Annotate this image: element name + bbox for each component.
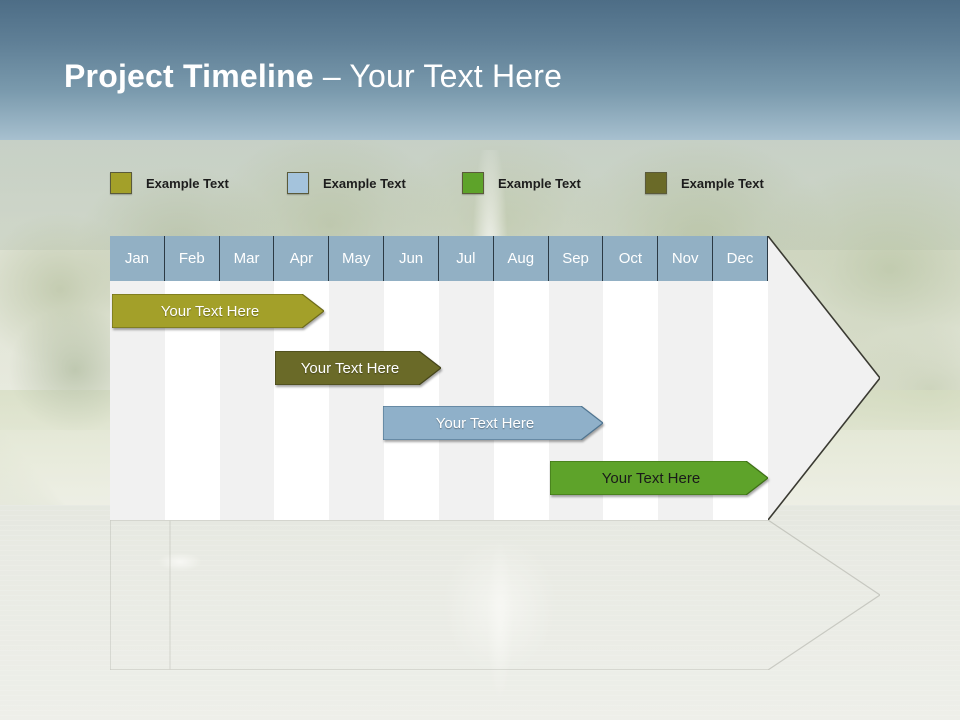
legend-swatch-icon: [110, 172, 132, 194]
legend-item-3[interactable]: Example Text: [462, 170, 581, 196]
task-bar-label: Your Text Here: [112, 303, 324, 320]
month-header-nov[interactable]: Nov: [658, 236, 713, 281]
page-title-bold: Project Timeline: [64, 58, 314, 94]
month-header-jul[interactable]: Jul: [439, 236, 494, 281]
legend: Example TextExample TextExample TextExam…: [0, 170, 960, 196]
task-bar-label: Your Text Here: [383, 415, 603, 432]
month-column: Mar: [220, 236, 275, 520]
legend-label: Example Text: [681, 176, 764, 191]
month-header-dec[interactable]: Dec: [713, 236, 768, 281]
month-header-mar[interactable]: Mar: [220, 236, 275, 281]
month-header-jun[interactable]: Jun: [384, 236, 439, 281]
month-header-aug[interactable]: Aug: [494, 236, 549, 281]
timeline-arrow-reflection: [110, 520, 880, 670]
task-bar-3[interactable]: Your Text Here: [383, 406, 603, 440]
legend-item-4[interactable]: Example Text: [645, 170, 764, 196]
month-header-sep[interactable]: Sep: [549, 236, 604, 281]
legend-label: Example Text: [498, 176, 581, 191]
legend-swatch-icon: [287, 172, 309, 194]
page-title: Project Timeline – Your Text Here: [64, 58, 562, 95]
legend-item-2[interactable]: Example Text: [287, 170, 406, 196]
legend-label: Example Text: [146, 176, 229, 191]
month-header-apr[interactable]: Apr: [274, 236, 329, 281]
legend-swatch-icon: [645, 172, 667, 194]
title-bar: Project Timeline – Your Text Here: [0, 0, 960, 140]
page-title-dash: –: [314, 58, 350, 94]
page-title-light: Your Text Here: [349, 58, 562, 94]
month-column: Jan: [110, 236, 165, 520]
month-column: Aug: [494, 236, 549, 520]
legend-item-1[interactable]: Example Text: [110, 170, 229, 196]
month-header-feb[interactable]: Feb: [165, 236, 220, 281]
month-header-jan[interactable]: Jan: [110, 236, 165, 281]
task-bar-4[interactable]: Your Text Here: [550, 461, 768, 495]
month-column: Feb: [165, 236, 220, 520]
task-bar-2[interactable]: Your Text Here: [275, 351, 441, 385]
task-bar-label: Your Text Here: [550, 470, 768, 487]
task-bar-1[interactable]: Your Text Here: [112, 294, 324, 328]
timeline-chart: JanFebMarAprMayJunJulAugSepOctNovDec You…: [110, 236, 880, 520]
month-header-may[interactable]: May: [329, 236, 384, 281]
task-bar-label: Your Text Here: [275, 360, 441, 377]
month-header-oct[interactable]: Oct: [603, 236, 658, 281]
month-column: Jul: [439, 236, 494, 520]
legend-label: Example Text: [323, 176, 406, 191]
legend-swatch-icon: [462, 172, 484, 194]
